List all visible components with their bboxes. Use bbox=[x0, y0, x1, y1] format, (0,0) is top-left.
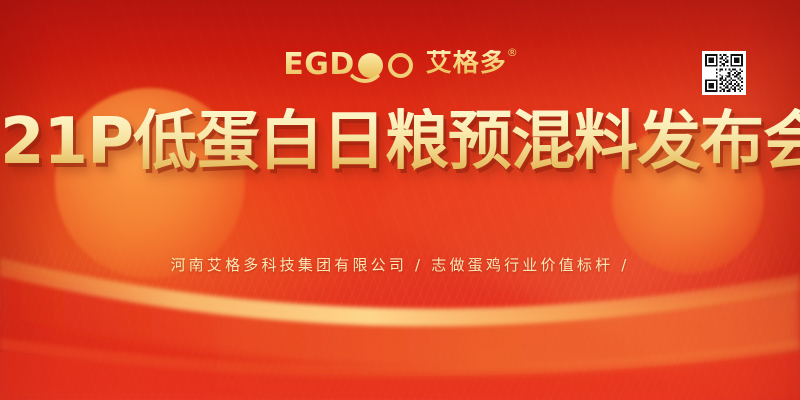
page-title: 21P低蛋白日粮预混料发布会 bbox=[0, 108, 800, 177]
bottom-swoosh-ribbon bbox=[0, 220, 800, 400]
subtitle-tagline: 河南艾格多科技集团有限公司 / 志做蛋鸡行业价值标杆 / bbox=[0, 258, 800, 273]
logo-wordmark: EGD bbox=[283, 50, 355, 80]
logo-mark: EGD bbox=[283, 46, 415, 80]
brand-logo: EGD 艾格多 ® bbox=[0, 42, 800, 84]
logo-brand-cn: 艾格多 ® bbox=[426, 50, 517, 76]
promotional-banner: EGD 艾格多 ® bbox=[0, 0, 800, 400]
qr-code[interactable] bbox=[702, 51, 746, 95]
circle-ring-icon bbox=[388, 53, 413, 78]
registered-trademark-icon: ® bbox=[507, 47, 519, 58]
logo-brand-cn-text: 艾格多 bbox=[426, 48, 507, 78]
